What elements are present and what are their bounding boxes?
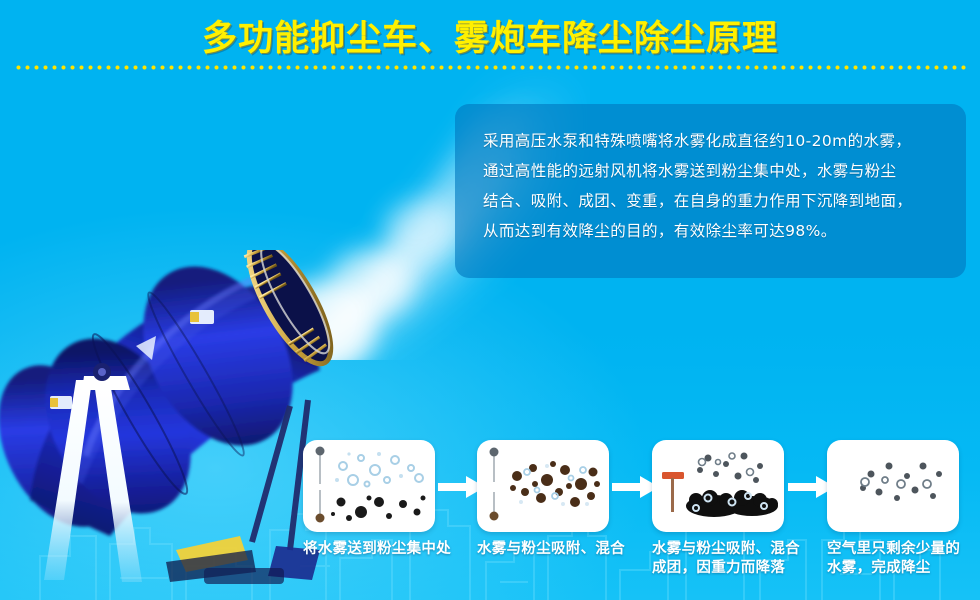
process-step-2-caption: 水雾与粉尘吸附、混合	[477, 540, 625, 559]
process-step-1[interactable]: 将水雾送到粉尘集中处	[303, 440, 451, 559]
process-step-2[interactable]: 水雾与粉尘吸附、混合	[477, 440, 625, 559]
mist-dust-mixing-icon	[477, 440, 609, 532]
process-step-4-caption: 空气里只剩余少量的 水雾，完成降尘	[827, 540, 960, 578]
process-flow: 将水雾送到粉尘集中处	[0, 440, 980, 600]
dust-clump-settling-icon	[652, 440, 784, 532]
poster-canvas: 多功能抑尘车、雾炮车降尘除尘原理	[0, 0, 980, 600]
info-panel: 采用高压水泵和特殊喷嘴将水雾化成直径约10-20m的水雾， 通过高性能的远射风机…	[455, 104, 966, 278]
process-step-3[interactable]: 水雾与粉尘吸附、混合 成团，因重力而降落	[652, 440, 800, 578]
dotted-divider	[14, 64, 966, 71]
header: 多功能抑尘车、雾炮车降尘除尘原理	[0, 0, 980, 82]
clean-air-residual-mist-icon	[827, 440, 959, 532]
process-step-4[interactable]: 空气里只剩余少量的 水雾，完成降尘	[827, 440, 960, 578]
info-line-3: 结合、吸附、成团、变重，在自身的重力作用下沉降到地面，	[483, 186, 940, 216]
info-line-4: 从而达到有效降尘的目的，有效除尘率可达98%。	[483, 216, 940, 246]
process-step-3-caption: 水雾与粉尘吸附、混合 成团，因重力而降落	[652, 540, 800, 578]
process-step-1-caption: 将水雾送到粉尘集中处	[303, 540, 451, 559]
info-line-1: 采用高压水泵和特殊喷嘴将水雾化成直径约10-20m的水雾，	[483, 126, 940, 156]
info-line-2: 通过高性能的远射风机将水雾送到粉尘集中处，水雾与粉尘	[483, 156, 940, 186]
mist-and-dust-separate-icon	[303, 440, 435, 532]
page-title: 多功能抑尘车、雾炮车降尘除尘原理	[0, 10, 980, 61]
